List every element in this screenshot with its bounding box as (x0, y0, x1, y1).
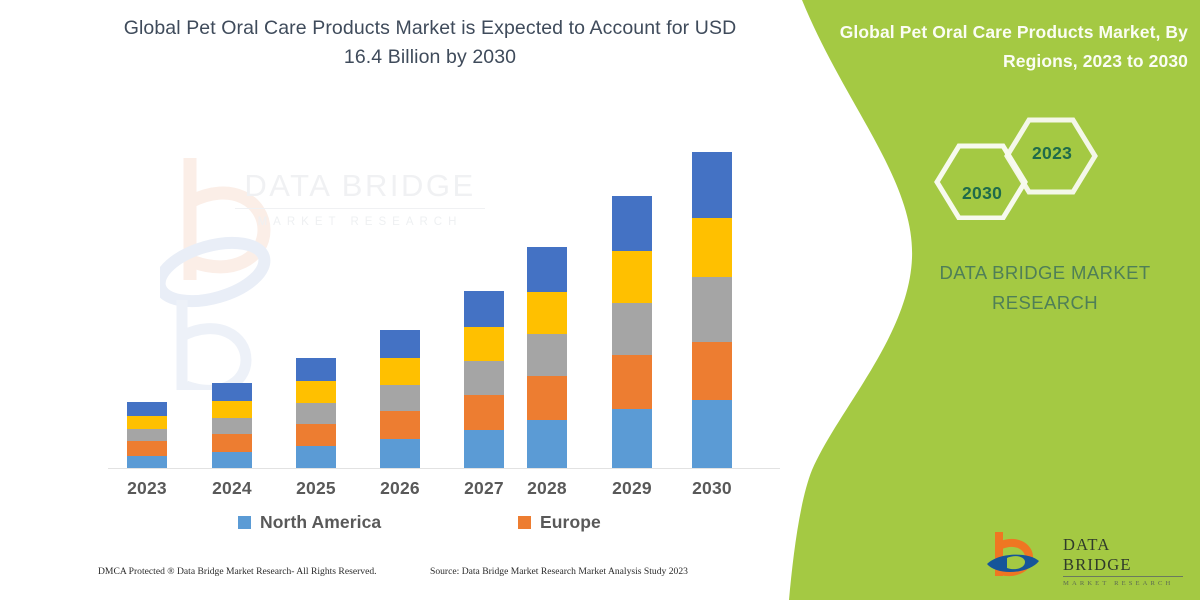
bar-segment-2030-series-5 (692, 152, 732, 218)
bar-segment-2028-series-5 (527, 247, 567, 292)
bar-segment-2028-europe (527, 376, 567, 420)
x-axis-tick-2030: 2030 (680, 478, 744, 499)
bar-segment-2029-north-america (612, 409, 652, 468)
bar-segment-2024-series-4 (212, 401, 252, 418)
bar-2030[interactable] (692, 152, 732, 468)
legend-item-north-america[interactable]: North America (238, 512, 381, 533)
chart-legend: North AmericaEurope (108, 512, 780, 542)
bar-segment-2029-europe (612, 355, 652, 409)
bar-segment-2024-series-3 (212, 418, 252, 434)
x-axis-tick-2025: 2025 (284, 478, 348, 499)
bar-segment-2025-series-3 (296, 403, 336, 424)
legend-label: Europe (540, 512, 601, 533)
bar-2028[interactable] (527, 247, 567, 468)
x-axis-tick-2028: 2028 (515, 478, 579, 499)
bar-segment-2030-series-3 (692, 277, 732, 342)
bar-segment-2029-series-5 (612, 196, 652, 251)
x-axis-tick-2023: 2023 (115, 478, 179, 499)
legend-swatch-icon (518, 516, 531, 529)
hexagon-2030-icon (937, 146, 1025, 218)
bar-segment-2024-europe (212, 434, 252, 452)
legend-item-europe[interactable]: Europe (518, 512, 601, 533)
x-axis-labels: 20232024202520262027202820292030 (108, 478, 780, 506)
bar-segment-2024-north-america (212, 452, 252, 468)
bar-segment-2023-europe (127, 441, 167, 456)
bar-segment-2030-europe (692, 342, 732, 400)
page-title: Global Pet Oral Care Products Market is … (110, 14, 750, 72)
bar-segment-2026-europe (380, 411, 420, 439)
bar-segment-2025-series-4 (296, 381, 336, 403)
bar-segment-2027-series-3 (464, 361, 504, 395)
bar-segment-2026-series-3 (380, 385, 420, 411)
bar-segment-2026-series-4 (380, 358, 420, 385)
infographic-canvas: Global Pet Oral Care Products Market is … (0, 0, 1200, 600)
bar-segment-2027-series-5 (464, 291, 504, 327)
bar-segment-2023-series-4 (127, 416, 167, 429)
bar-segment-2027-series-4 (464, 327, 504, 361)
bar-segment-2023-series-3 (127, 429, 167, 441)
bar-2025[interactable] (296, 358, 336, 468)
bar-segment-2027-north-america (464, 430, 504, 468)
legend-label: North America (260, 512, 381, 533)
hexagon-label-2023: 2023 (1032, 143, 1072, 164)
footer-source: Source: Data Bridge Market Research Mark… (430, 566, 688, 577)
bar-segment-2029-series-3 (612, 303, 652, 355)
bar-2027[interactable] (464, 291, 504, 468)
x-axis-tick-2024: 2024 (200, 478, 264, 499)
bar-segment-2026-north-america (380, 439, 420, 468)
logo-main: DATA BRIDGE (1063, 535, 1183, 577)
bar-segment-2024-series-5 (212, 383, 252, 401)
x-axis-tick-2026: 2026 (368, 478, 432, 499)
logo-wordmark: DATA BRIDGE MARKET RESEARCH (1063, 535, 1183, 587)
bar-chart-plot-area (108, 120, 780, 468)
bar-segment-2029-series-4 (612, 251, 652, 303)
chart-baseline (108, 468, 780, 469)
bar-segment-2028-series-3 (527, 334, 567, 376)
footer: DMCA Protected ® Data Bridge Market Rese… (0, 566, 790, 590)
x-axis-tick-2029: 2029 (600, 478, 664, 499)
bar-segment-2026-series-5 (380, 330, 420, 358)
hexagon-label-2030: 2030 (962, 183, 1002, 204)
logo-sub: MARKET RESEARCH (1063, 580, 1183, 587)
bar-segment-2023-north-america (127, 456, 167, 468)
x-axis-tick-2027: 2027 (452, 478, 516, 499)
bar-2024[interactable] (212, 383, 252, 468)
bar-segment-2023-series-5 (127, 402, 167, 416)
bar-segment-2025-europe (296, 424, 336, 446)
brand-name: DATA BRIDGE MARKET RESEARCH (905, 258, 1185, 318)
panel-title: Global Pet Oral Care Products Market, By… (828, 18, 1188, 76)
bar-2023[interactable] (127, 402, 167, 468)
bar-segment-2028-series-4 (527, 292, 567, 334)
bar-segment-2025-north-america (296, 446, 336, 468)
bar-segment-2030-series-4 (692, 218, 732, 277)
bar-2029[interactable] (612, 196, 652, 468)
bar-segment-2030-north-america (692, 400, 732, 468)
hexagon-badges (925, 112, 1115, 220)
bar-segment-2027-europe (464, 395, 504, 430)
bar-segment-2025-series-5 (296, 358, 336, 381)
bar-2026[interactable] (380, 330, 420, 468)
footer-copyright: DMCA Protected ® Data Bridge Market Rese… (98, 566, 377, 577)
bar-segment-2028-north-america (527, 420, 567, 468)
legend-swatch-icon (238, 516, 251, 529)
